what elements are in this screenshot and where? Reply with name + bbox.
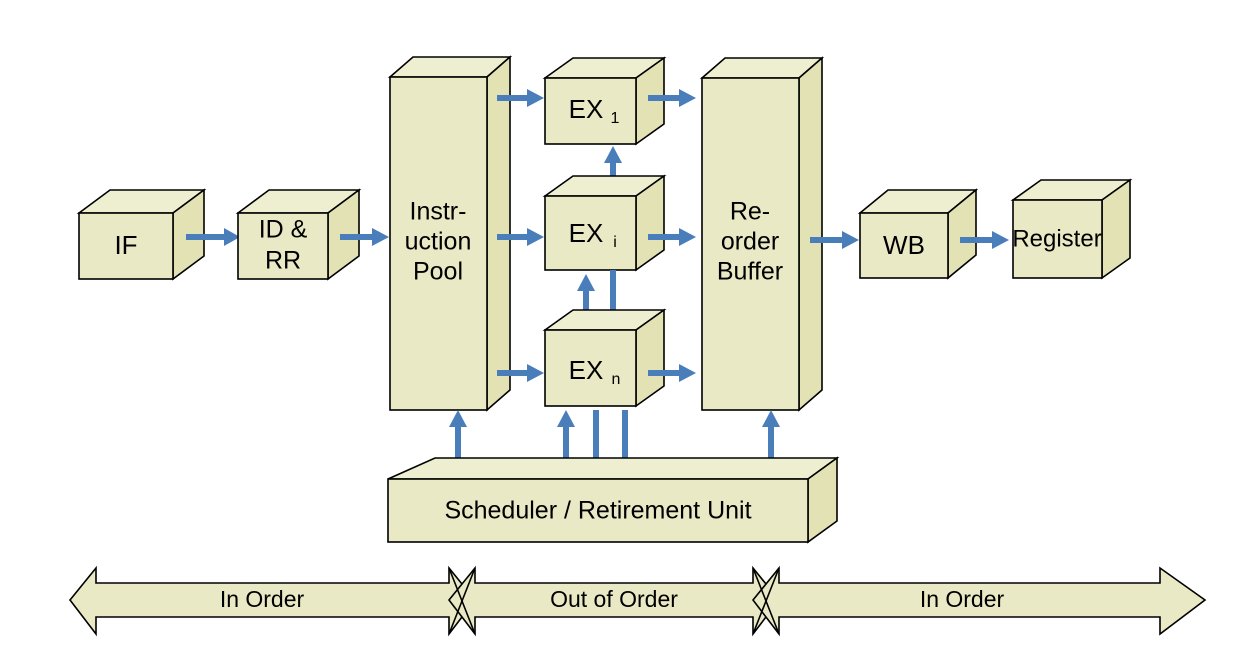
band-out-of-order-label: Out of Order (550, 586, 678, 612)
band-in-order-front[interactable]: In Order (70, 568, 475, 634)
box-reorder-buffer-label-line2: order (721, 228, 779, 256)
box-ex-1-label: EX (569, 94, 604, 124)
box-if[interactable]: IF (79, 190, 204, 279)
box-id-rr-label-line1: ID & (259, 216, 308, 244)
box-ex-i[interactable]: EX i (545, 176, 664, 270)
box-reorder-buffer[interactable]: Re- order Buffer (702, 58, 822, 410)
box-ex-i-subscript: i (613, 234, 617, 251)
band-in-order-back-label: In Order (920, 586, 1005, 612)
box-instruction-pool-side-face (487, 57, 510, 410)
box-reorder-buffer-label-line1: Re- (730, 198, 770, 226)
box-scheduler-label: Scheduler / Retirement Unit (444, 497, 751, 525)
box-ex-n-subscript: n (612, 371, 621, 388)
box-reorder-buffer-side-face (799, 58, 822, 410)
band-in-order-back[interactable]: In Order (753, 568, 1205, 634)
box-scheduler[interactable]: Scheduler / Retirement Unit (388, 458, 837, 542)
box-if-label: IF (114, 230, 137, 260)
band-out-of-order[interactable]: Out of Order (449, 568, 779, 634)
box-wb[interactable]: WB (860, 190, 976, 278)
diagram-canvas: IF ID & RR Instr- uction Pool (0, 0, 1249, 661)
box-reorder-buffer-label-line3: Buffer (717, 258, 783, 286)
box-ex-i-label: EX (569, 218, 604, 248)
box-ex-1[interactable]: EX 1 (545, 58, 664, 144)
box-register-label: Register (1012, 225, 1101, 252)
band-in-order-front-label: In Order (220, 586, 305, 612)
box-ex-n[interactable]: EX n (545, 310, 664, 406)
box-ex-n-label: EX (569, 355, 604, 385)
box-wb-label: WB (883, 230, 925, 260)
box-scheduler-top-face (388, 458, 837, 479)
box-id-rr-label-line2: RR (265, 247, 301, 275)
box-ex-1-subscript: 1 (611, 110, 620, 127)
box-instruction-pool[interactable]: Instr- uction Pool (390, 57, 510, 410)
box-instruction-pool-label-line3: Pool (413, 258, 463, 286)
box-register[interactable]: Register (1012, 180, 1130, 278)
box-instruction-pool-label-line2: uction (405, 228, 472, 256)
box-instruction-pool-label-line1: Instr- (410, 198, 467, 226)
pipeline-diagram: IF ID & RR Instr- uction Pool (0, 0, 1249, 661)
